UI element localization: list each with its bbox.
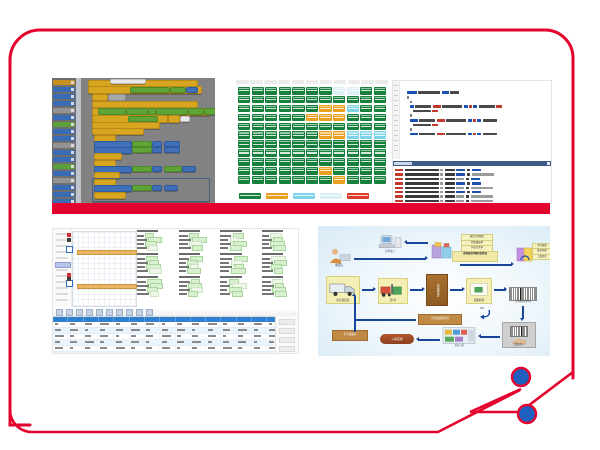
- block-logic[interactable]: [130, 87, 170, 93]
- log-console-output[interactable]: [393, 167, 551, 203]
- warehouse-cell-green[interactable]: [265, 87, 277, 95]
- warehouse-cell-green[interactable]: [374, 176, 386, 184]
- warehouse-cell-green[interactable]: [252, 167, 264, 175]
- table-cell[interactable]: [160, 352, 175, 354]
- table-cell[interactable]: [206, 352, 221, 354]
- block-logic[interactable]: [170, 87, 186, 93]
- warehouse-cell-green[interactable]: [333, 167, 345, 175]
- table-cell[interactable]: [84, 346, 99, 351]
- warehouse-cell-green[interactable]: [319, 87, 331, 95]
- warehouse-cell-cyan[interactable]: [347, 131, 359, 139]
- warehouse-cell-green[interactable]: [292, 149, 304, 157]
- table-cell[interactable]: [176, 340, 191, 345]
- table-cell[interactable]: [68, 334, 83, 339]
- warehouse-cell-green[interactable]: [265, 140, 277, 148]
- table-cell[interactable]: [99, 334, 114, 339]
- table-cell[interactable]: [145, 346, 160, 351]
- table-cell[interactable]: [68, 340, 83, 345]
- block-component[interactable]: [152, 185, 162, 191]
- warehouse-cell-green[interactable]: [374, 114, 386, 122]
- warehouse-cell-green[interactable]: [306, 131, 318, 139]
- table-cell[interactable]: [160, 334, 175, 339]
- warehouse-cell-green[interactable]: [306, 176, 318, 184]
- block-logic[interactable]: [128, 116, 158, 122]
- side-button[interactable]: [279, 337, 295, 343]
- warehouse-cell-green[interactable]: [292, 96, 304, 104]
- palette-block-blue[interactable]: [53, 150, 75, 155]
- table-cell[interactable]: [252, 322, 267, 327]
- table-cell[interactable]: [99, 352, 114, 354]
- block-text-literal[interactable]: [180, 116, 190, 122]
- code-line[interactable]: [401, 125, 549, 130]
- warehouse-cell-green[interactable]: [374, 105, 386, 113]
- table-cell[interactable]: [160, 322, 175, 327]
- gantt-grid[interactable]: [72, 231, 137, 307]
- palette-block-blue[interactable]: [53, 171, 75, 176]
- warehouse-cell-green[interactable]: [360, 176, 372, 184]
- table-cell[interactable]: [160, 340, 175, 345]
- block-event[interactable]: [92, 94, 108, 101]
- block-logic[interactable]: [132, 185, 152, 191]
- block-logic[interactable]: [132, 166, 152, 172]
- warehouse-cell-green[interactable]: [238, 158, 250, 166]
- warehouse-cell-green[interactable]: [238, 105, 250, 113]
- palette-block-blue[interactable]: [53, 101, 75, 106]
- table-cell[interactable]: [53, 340, 68, 345]
- palette-block-gray[interactable]: [53, 108, 75, 113]
- wf-node-order-entry[interactable]: 订单录入: [376, 232, 404, 254]
- block-component[interactable]: [182, 166, 196, 172]
- warehouse-cell-green[interactable]: [306, 87, 318, 95]
- table-cell[interactable]: [160, 346, 175, 351]
- block-component[interactable]: [186, 87, 198, 93]
- warehouse-cell-green[interactable]: [360, 149, 372, 157]
- wf-node-shelve[interactable]: 上架入库: [442, 326, 476, 348]
- table-cell[interactable]: [206, 340, 221, 345]
- warehouse-cell-green[interactable]: [279, 167, 291, 175]
- table-cell[interactable]: [176, 352, 191, 354]
- warehouse-cell-green[interactable]: [347, 96, 359, 104]
- warehouse-cell-orange[interactable]: [319, 105, 331, 113]
- warehouse-cell-green[interactable]: [319, 140, 331, 148]
- table-cell[interactable]: [68, 328, 83, 333]
- table-cell[interactable]: [84, 322, 99, 327]
- warehouse-cell-green[interactable]: [279, 140, 291, 148]
- wf-node-reject-area[interactable]: 不合格品暂存区: [418, 314, 462, 325]
- table-cell[interactable]: [130, 346, 145, 351]
- warehouse-cell-green[interactable]: [252, 158, 264, 166]
- warehouse-cell-green[interactable]: [306, 158, 318, 166]
- warehouse-grid-body[interactable]: [238, 87, 386, 185]
- table-row[interactable]: [53, 352, 298, 354]
- panel-code-editor[interactable]: [392, 80, 552, 204]
- warehouse-cell-green[interactable]: [347, 114, 359, 122]
- warehouse-cell-green[interactable]: [292, 140, 304, 148]
- table-cell[interactable]: [191, 322, 206, 327]
- warehouse-cell-green[interactable]: [360, 123, 372, 131]
- warehouse-cell-orange[interactable]: [333, 105, 345, 113]
- warehouse-cell-green[interactable]: [252, 105, 264, 113]
- warehouse-cell-green[interactable]: [238, 96, 250, 104]
- warehouse-cell-green[interactable]: [265, 176, 277, 184]
- table-cell[interactable]: [176, 346, 191, 351]
- table-cell[interactable]: [237, 334, 252, 339]
- warehouse-cell-green[interactable]: [306, 140, 318, 148]
- table-cell[interactable]: [191, 352, 206, 354]
- table-side-buttons[interactable]: [275, 316, 298, 353]
- log-console-titlebar[interactable]: [393, 161, 551, 166]
- code-text-area[interactable]: [401, 84, 549, 130]
- warehouse-cell-orange[interactable]: [306, 114, 318, 122]
- warehouse-cell-green[interactable]: [374, 87, 386, 95]
- panel-warehouse-grid[interactable]: [236, 80, 388, 202]
- block-event[interactable]: [94, 192, 126, 199]
- block-logic[interactable]: [164, 166, 182, 172]
- warehouse-cell-green[interactable]: [319, 158, 331, 166]
- table-cell[interactable]: [53, 328, 68, 333]
- form-value[interactable]: [231, 268, 246, 273]
- table-cell[interactable]: [99, 340, 114, 345]
- warehouse-cell-green[interactable]: [347, 176, 359, 184]
- table-cell[interactable]: [221, 322, 236, 327]
- table-cell[interactable]: [252, 340, 267, 345]
- warehouse-cell-green[interactable]: [319, 96, 331, 104]
- form-value[interactable]: [273, 245, 286, 250]
- table-cell[interactable]: [145, 352, 160, 354]
- warehouse-cell-green[interactable]: [292, 123, 304, 131]
- palette-block-blue[interactable]: [53, 185, 75, 190]
- warehouse-cell-green[interactable]: [374, 96, 386, 104]
- warehouse-cell-green[interactable]: [252, 123, 264, 131]
- block-component[interactable]: [152, 166, 162, 172]
- scheduler-form-panels[interactable]: [137, 230, 297, 306]
- warehouse-cell-green[interactable]: [292, 158, 304, 166]
- block-event[interactable]: [168, 115, 180, 123]
- table-cell[interactable]: [206, 328, 221, 333]
- palette-block-blue[interactable]: [53, 157, 75, 162]
- table-cell[interactable]: [114, 334, 129, 339]
- block-component[interactable]: [152, 147, 162, 153]
- warehouse-cell-green[interactable]: [292, 114, 304, 122]
- table-cell[interactable]: [114, 346, 129, 351]
- table-cell[interactable]: [68, 322, 83, 327]
- gantt-bar[interactable]: [77, 284, 137, 289]
- form-value[interactable]: [148, 245, 158, 250]
- table-cell[interactable]: [252, 334, 267, 339]
- warehouse-cell-green[interactable]: [319, 123, 331, 131]
- warehouse-cell-green[interactable]: [374, 123, 386, 131]
- table-cell[interactable]: [191, 340, 206, 345]
- table-cell[interactable]: [99, 328, 114, 333]
- palette-block-green[interactable]: [53, 164, 75, 169]
- palette-block-gray[interactable]: [53, 178, 75, 183]
- table-cell[interactable]: [145, 340, 160, 345]
- toolbar-icon[interactable]: [146, 309, 153, 316]
- table-cell[interactable]: [145, 322, 160, 327]
- form-value[interactable]: [232, 291, 243, 296]
- table-cell[interactable]: [114, 352, 129, 354]
- block-event[interactable]: [94, 153, 122, 160]
- warehouse-cell-green[interactable]: [360, 158, 372, 166]
- warehouse-cell-green[interactable]: [265, 114, 277, 122]
- table-cell[interactable]: [114, 340, 129, 345]
- warehouse-cell-green[interactable]: [238, 131, 250, 139]
- block-logic[interactable]: [188, 108, 204, 114]
- warehouse-cell-green[interactable]: [279, 149, 291, 157]
- table-cell[interactable]: [206, 334, 221, 339]
- palette-block-blue[interactable]: [53, 94, 75, 99]
- table-toolbar[interactable]: [53, 309, 298, 317]
- warehouse-cell-green[interactable]: [333, 96, 345, 104]
- table-cell[interactable]: [221, 346, 236, 351]
- table-cell[interactable]: [252, 352, 267, 354]
- warehouse-cell-green[interactable]: [333, 158, 345, 166]
- table-cell[interactable]: [68, 352, 83, 354]
- warehouse-cell-green[interactable]: [238, 167, 250, 175]
- warehouse-cell-green[interactable]: [333, 123, 345, 131]
- warehouse-cell-green[interactable]: [374, 158, 386, 166]
- palette-block-green[interactable]: [53, 122, 75, 127]
- table-cell[interactable]: [114, 328, 129, 333]
- block-logic[interactable]: [132, 147, 152, 153]
- block-text-literal[interactable]: [110, 79, 146, 84]
- warehouse-cell-green[interactable]: [279, 123, 291, 131]
- warehouse-cell-green[interactable]: [252, 149, 264, 157]
- warehouse-cell-green[interactable]: [347, 123, 359, 131]
- panel-workflow-diagram[interactable]: 收货员 订单录入 收货计划制定 到货通知单 作业任务单 采购收货单据传给物流: [318, 226, 550, 356]
- table-cell[interactable]: [99, 346, 114, 351]
- warehouse-cell-green[interactable]: [265, 167, 277, 175]
- wf-node-operator[interactable]: 收货员: [326, 246, 352, 268]
- warehouse-cell-green[interactable]: [265, 131, 277, 139]
- table-cell[interactable]: [176, 322, 191, 327]
- log-console-close-icon[interactable]: [547, 162, 550, 165]
- table-cell[interactable]: [130, 352, 145, 354]
- block-logic[interactable]: [156, 108, 188, 114]
- warehouse-cell-green[interactable]: [360, 140, 372, 148]
- warehouse-cell-green[interactable]: [238, 149, 250, 157]
- warehouse-cell-green[interactable]: [306, 96, 318, 104]
- warehouse-cell-green[interactable]: [292, 131, 304, 139]
- table-cell[interactable]: [221, 352, 236, 354]
- toolbar-icon[interactable]: [66, 309, 73, 316]
- wf-node-reject-store[interactable]: 不合格品库: [332, 330, 368, 341]
- table-cell[interactable]: [145, 334, 160, 339]
- block-event[interactable]: [92, 101, 198, 108]
- toolbar-icon[interactable]: [56, 309, 63, 316]
- gantt-selected-row[interactable]: [55, 262, 71, 268]
- warehouse-cell-green[interactable]: [347, 140, 359, 148]
- block-logic[interactable]: [148, 108, 156, 114]
- warehouse-cell-pale[interactable]: [333, 87, 345, 95]
- block-component[interactable]: [164, 185, 178, 191]
- form-value[interactable]: [150, 291, 159, 296]
- table-cell[interactable]: [221, 340, 236, 345]
- blocks-palette[interactable]: [52, 78, 77, 203]
- warehouse-cell-orange[interactable]: [319, 167, 331, 175]
- warehouse-cell-cyan[interactable]: [374, 131, 386, 139]
- form-value[interactable]: [149, 268, 162, 273]
- wf-node-unload[interactable]: 卸 货: [378, 278, 408, 304]
- warehouse-cell-green[interactable]: [279, 131, 291, 139]
- palette-block-blue[interactable]: [53, 192, 75, 197]
- toolbar-icon[interactable]: [96, 309, 103, 316]
- table-cell[interactable]: [145, 328, 160, 333]
- side-button[interactable]: [279, 346, 295, 352]
- toolbar-icon[interactable]: [86, 309, 93, 316]
- form-value[interactable]: [274, 268, 283, 273]
- block-control[interactable]: [108, 94, 126, 101]
- warehouse-cell-green[interactable]: [333, 149, 345, 157]
- warehouse-cell-green[interactable]: [347, 158, 359, 166]
- gantt-node-marker[interactable]: [66, 246, 73, 253]
- warehouse-cell-green[interactable]: [279, 176, 291, 184]
- gantt-bar[interactable]: [77, 250, 137, 255]
- warehouse-cell-green[interactable]: [252, 87, 264, 95]
- palette-block-blue[interactable]: [53, 87, 75, 92]
- warehouse-cell-green[interactable]: [306, 167, 318, 175]
- table-cell[interactable]: [206, 322, 221, 327]
- palette-block-blue[interactable]: [53, 136, 75, 141]
- warehouse-cell-green[interactable]: [238, 123, 250, 131]
- block-component[interactable]: [94, 185, 132, 192]
- warehouse-cell-green[interactable]: [292, 167, 304, 175]
- blocks-canvas[interactable]: [82, 78, 215, 203]
- warehouse-cell-green[interactable]: [347, 149, 359, 157]
- warehouse-cell-orange[interactable]: [319, 114, 331, 122]
- warehouse-cell-green[interactable]: [292, 176, 304, 184]
- warehouse-cell-orange[interactable]: [319, 131, 331, 139]
- warehouse-cell-green[interactable]: [279, 105, 291, 113]
- warehouse-cell-orange[interactable]: [333, 176, 345, 184]
- table-cell[interactable]: [130, 334, 145, 339]
- block-logic[interactable]: [98, 108, 126, 114]
- scheduler-upper[interactable]: [53, 229, 298, 307]
- palette-block-blue[interactable]: [53, 115, 75, 120]
- warehouse-cell-green[interactable]: [374, 149, 386, 157]
- table-cell[interactable]: [53, 352, 68, 354]
- toolbar-icon[interactable]: [76, 309, 83, 316]
- warehouse-cell-green[interactable]: [265, 123, 277, 131]
- table-cell[interactable]: [130, 340, 145, 345]
- table-cell[interactable]: [206, 346, 221, 351]
- warehouse-cell-green[interactable]: [306, 105, 318, 113]
- form-value[interactable]: [275, 291, 287, 296]
- warehouse-cell-green[interactable]: [347, 167, 359, 175]
- table-cell[interactable]: [252, 346, 267, 351]
- table-cell[interactable]: [176, 328, 191, 333]
- warehouse-cell-green[interactable]: [252, 140, 264, 148]
- table-cell[interactable]: [237, 328, 252, 333]
- warehouse-cell-green[interactable]: [292, 105, 304, 113]
- warehouse-cell-green[interactable]: [279, 87, 291, 95]
- toolbar-icon[interactable]: [126, 309, 133, 316]
- wf-node-staging[interactable]: 暂存理货区: [426, 274, 448, 306]
- form-value[interactable]: [192, 245, 203, 250]
- table-cell[interactable]: [68, 346, 83, 351]
- warehouse-cell-pale[interactable]: [347, 87, 359, 95]
- table-cell[interactable]: [237, 352, 252, 354]
- blocks-palette-scrollbar[interactable]: [76, 78, 81, 203]
- warehouse-cell-green[interactable]: [360, 114, 372, 122]
- side-button[interactable]: [279, 328, 295, 334]
- warehouse-cell-green[interactable]: [265, 158, 277, 166]
- table-cell[interactable]: [176, 334, 191, 339]
- warehouse-cell-green[interactable]: [279, 158, 291, 166]
- table-cell[interactable]: [84, 328, 99, 333]
- warehouse-cell-green[interactable]: [252, 114, 264, 122]
- table-cell[interactable]: [130, 322, 145, 327]
- warehouse-cell-green[interactable]: [333, 140, 345, 148]
- form-value[interactable]: [188, 291, 198, 296]
- table-cell[interactable]: [160, 328, 175, 333]
- panel-blocks-editor[interactable]: [52, 78, 215, 203]
- wf-node-inspect[interactable]: 质量检验: [466, 278, 492, 304]
- table-cell[interactable]: [114, 322, 129, 327]
- block-logic[interactable]: [204, 108, 215, 114]
- table-body[interactable]: [53, 317, 298, 354]
- panel-scheduler[interactable]: [52, 228, 299, 354]
- table-cell[interactable]: [53, 334, 68, 339]
- table-cell[interactable]: [237, 346, 252, 351]
- warehouse-cell-green[interactable]: [265, 96, 277, 104]
- warehouse-cell-green[interactable]: [252, 96, 264, 104]
- table-cell[interactable]: [191, 346, 206, 351]
- wf-node-complete[interactable]: 入库完成: [380, 334, 414, 344]
- warehouse-cell-green[interactable]: [360, 87, 372, 95]
- palette-block-orange[interactable]: [53, 80, 75, 85]
- warehouse-cell-green[interactable]: [238, 140, 250, 148]
- scheduler-data-table[interactable]: [53, 309, 298, 353]
- table-cell[interactable]: [99, 322, 114, 327]
- palette-block-gray[interactable]: [53, 143, 75, 148]
- warehouse-cell-orange[interactable]: [333, 131, 345, 139]
- block-event[interactable]: [92, 128, 144, 135]
- table-cell[interactable]: [84, 334, 99, 339]
- form-value[interactable]: [187, 268, 201, 273]
- warehouse-cell-green[interactable]: [238, 176, 250, 184]
- warehouse-cell-orange[interactable]: [333, 114, 345, 122]
- table-cell[interactable]: [221, 328, 236, 333]
- warehouse-cell-green[interactable]: [319, 176, 331, 184]
- table-cell[interactable]: [237, 322, 252, 327]
- warehouse-cell-green[interactable]: [306, 149, 318, 157]
- form-value[interactable]: [230, 245, 242, 250]
- table-cell[interactable]: [221, 334, 236, 339]
- side-button[interactable]: [279, 319, 295, 325]
- table-cell[interactable]: [191, 334, 206, 339]
- warehouse-cell-green[interactable]: [252, 131, 264, 139]
- table-cell[interactable]: [84, 340, 99, 345]
- table-cell[interactable]: [130, 328, 145, 333]
- table-cell[interactable]: [53, 322, 68, 327]
- wf-node-scan-in[interactable]: 扫描录入: [502, 322, 536, 348]
- warehouse-cell-green[interactable]: [374, 167, 386, 175]
- block-component[interactable]: [164, 147, 180, 153]
- warehouse-cell-green[interactable]: [279, 96, 291, 104]
- warehouse-cell-green[interactable]: [279, 114, 291, 122]
- gantt-node-marker[interactable]: [66, 280, 73, 287]
- warehouse-cell-green[interactable]: [374, 140, 386, 148]
- table-cell[interactable]: [84, 352, 99, 354]
- table-cell[interactable]: [237, 340, 252, 345]
- table-cell[interactable]: [252, 328, 267, 333]
- warehouse-cell-green[interactable]: [238, 114, 250, 122]
- warehouse-cell-green[interactable]: [306, 123, 318, 131]
- warehouse-cell-green[interactable]: [360, 96, 372, 104]
- wf-node-label-print[interactable]: 打印标签条码: [508, 278, 538, 304]
- warehouse-cell-green[interactable]: [238, 87, 250, 95]
